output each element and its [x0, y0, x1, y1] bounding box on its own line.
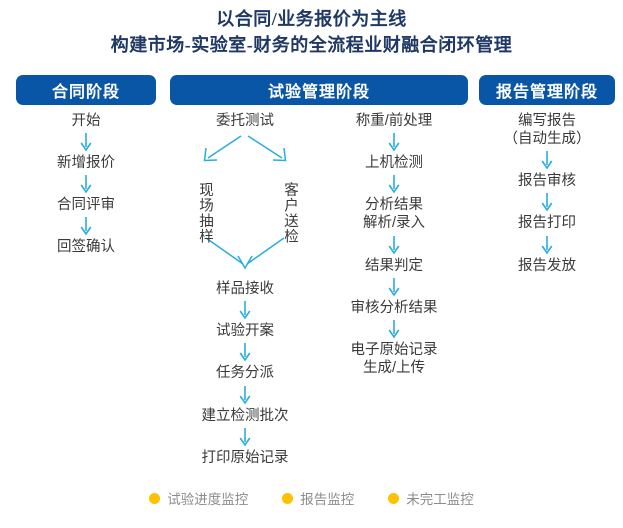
- flow-column-test-right: 称重/前处理 上机检测 分析结果 解析/录入 结果判定 审核分析结果 电子原始记…: [320, 112, 468, 377]
- arrow-down-icon: [539, 235, 555, 255]
- flow-node-start[interactable]: 开始: [16, 112, 156, 130]
- flow-node-electronic-raw-record[interactable]: 电子原始记录 生成/上传: [320, 341, 468, 377]
- flow-node-task-assignment[interactable]: 任务分派: [170, 364, 320, 382]
- arrow-down-icon: [386, 174, 402, 194]
- flow-node-create-test-batch[interactable]: 建立检测批次: [170, 407, 320, 425]
- arrow-down-icon: [237, 385, 253, 405]
- arrow-down-icon: [386, 319, 402, 339]
- flow-node-onsite-sampling[interactable]: 现场抽样: [192, 182, 214, 244]
- arrow-down-icon: [78, 132, 94, 152]
- flow-node-signback-confirm[interactable]: 回签确认: [16, 238, 156, 256]
- arrow-down-icon: [78, 216, 94, 236]
- stage-header-test-management[interactable]: 试验管理阶段: [170, 75, 468, 105]
- flow-node-result-parse-entry[interactable]: 分析结果 解析/录入: [320, 196, 468, 232]
- flow-node-entrusted-test[interactable]: 委托测试: [170, 112, 320, 130]
- arrow-down-icon: [237, 427, 253, 447]
- stage-header-contract[interactable]: 合同阶段: [16, 75, 156, 105]
- arrow-down-icon: [539, 192, 555, 212]
- legend-item-report-monitor-label: 报告监控: [300, 488, 354, 508]
- legend-item-report-monitor[interactable]: 报告监控: [282, 488, 354, 508]
- legend-item-test-progress-label: 试验进度监控: [167, 488, 248, 508]
- flow-node-write-report[interactable]: 编写报告 （自动生成）: [479, 112, 615, 148]
- legend-item-unfinished-monitor[interactable]: 未完工监控: [388, 488, 474, 508]
- flow-node-customer-submission[interactable]: 客户送检: [277, 182, 299, 244]
- flow-node-new-quotation[interactable]: 新增报价: [16, 154, 156, 172]
- arrow-down-icon: [539, 150, 555, 170]
- flow-node-review-analysis-result[interactable]: 审核分析结果: [320, 299, 468, 317]
- flow-node-contract-review[interactable]: 合同评审: [16, 196, 156, 214]
- arrow-down-icon: [386, 132, 402, 152]
- flow-node-print-raw-record[interactable]: 打印原始记录: [170, 449, 320, 467]
- flow-node-report-review[interactable]: 报告审核: [479, 172, 615, 190]
- page-title-line-2: 构建市场-实验室-财务的全流程业财融合闭环管理: [0, 32, 623, 58]
- flow-node-test-case-open[interactable]: 试验开案: [170, 322, 320, 340]
- arrow-down-icon: [237, 342, 253, 362]
- flow-node-report-print[interactable]: 报告打印: [479, 214, 615, 232]
- flow-node-report-issue[interactable]: 报告发放: [479, 257, 615, 275]
- arrow-down-icon: [237, 300, 253, 320]
- legend-dot-icon: [282, 493, 293, 504]
- flow-column-test-left: 委托测试 现场抽样 客户送检 样品接收 试验开案 任务分派: [170, 112, 320, 467]
- page-title: 以合同/业务报价为主线 构建市场-实验室-财务的全流程业财融合闭环管理: [0, 6, 623, 58]
- stage-header-report-management-label: 报告管理阶段: [496, 78, 598, 102]
- stage-header-contract-label: 合同阶段: [52, 78, 120, 102]
- flow-column-report: 编写报告 （自动生成） 报告审核 报告打印 报告发放: [479, 112, 615, 275]
- arrow-down-icon: [386, 235, 402, 255]
- flow-node-result-judgement[interactable]: 结果判定: [320, 257, 468, 275]
- flow-node-sample-receipt[interactable]: 样品接收: [170, 280, 320, 298]
- legend-dot-icon: [149, 493, 160, 504]
- arrow-down-icon: [386, 277, 402, 297]
- stage-header-report-management[interactable]: 报告管理阶段: [479, 75, 615, 105]
- page-title-line-1: 以合同/业务报价为主线: [0, 6, 623, 32]
- legend-item-test-progress[interactable]: 试验进度监控: [149, 488, 248, 508]
- flow-branch-group: 现场抽样 客户送检: [170, 130, 320, 280]
- flow-node-weighing-pretreatment[interactable]: 称重/前处理: [320, 112, 468, 130]
- arrow-down-icon: [78, 174, 94, 194]
- legend-dot-icon: [388, 493, 399, 504]
- legend-item-unfinished-monitor-label: 未完工监控: [406, 488, 474, 508]
- flow-column-contract: 开始 新增报价 合同评审 回签确认: [16, 112, 156, 257]
- stage-header-test-management-label: 试验管理阶段: [268, 78, 370, 102]
- legend: 试验进度监控 报告监控 未完工监控: [0, 488, 623, 508]
- flow-node-instrument-test[interactable]: 上机检测: [320, 154, 468, 172]
